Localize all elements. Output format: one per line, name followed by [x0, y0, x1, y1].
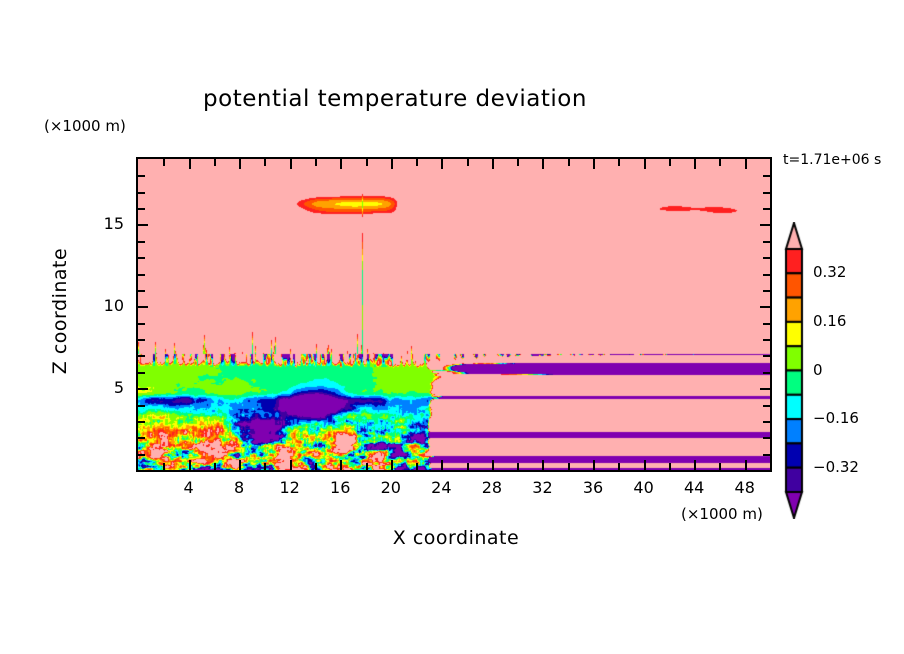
x-axis-tick [467, 463, 469, 470]
y-axis-tick [763, 372, 770, 374]
y-axis-tick [138, 274, 145, 276]
y-axis-tick [138, 454, 145, 456]
x-axis-tick [745, 159, 747, 169]
y-axis-unit-label: (×1000 m) [44, 117, 126, 135]
y-axis-tick [138, 208, 145, 210]
x-axis-tick [745, 460, 747, 470]
x-axis-tick [214, 463, 216, 470]
x-axis-title: X coordinate [256, 527, 656, 549]
y-axis-tick [763, 405, 770, 407]
colorbar-canvas [779, 222, 809, 519]
x-tick-label: 12 [270, 478, 310, 497]
x-axis-tick [669, 463, 671, 470]
y-axis-tick [760, 306, 770, 308]
colorbar-tick-label: 0 [813, 361, 823, 379]
x-axis-tick [644, 159, 646, 169]
y-axis-tick [138, 405, 145, 407]
x-axis-tick [416, 463, 418, 470]
x-tick-label: 40 [624, 478, 664, 497]
x-axis-tick [618, 463, 620, 470]
y-axis-tick [760, 224, 770, 226]
y-axis-tick [138, 372, 145, 374]
x-axis-tick [492, 460, 494, 470]
x-axis-tick [441, 460, 443, 470]
y-axis-tick [763, 339, 770, 341]
y-axis-tick [763, 192, 770, 194]
x-tick-label: 48 [725, 478, 765, 497]
x-axis-tick [189, 460, 191, 470]
x-axis-tick [340, 460, 342, 470]
x-axis-tick [517, 463, 519, 470]
y-axis-tick [138, 257, 145, 259]
y-tick-label: 15 [84, 214, 124, 233]
y-axis-title: Z coordinate [49, 211, 71, 411]
contour-field-canvas [138, 159, 770, 470]
y-axis-tick [763, 175, 770, 177]
y-axis-tick [138, 306, 148, 308]
x-axis-tick [239, 159, 241, 169]
x-axis-tick [239, 460, 241, 470]
y-axis-tick [763, 290, 770, 292]
y-axis-tick [138, 421, 145, 423]
colorbar [779, 222, 809, 519]
chart-title: potential temperature deviation [0, 86, 790, 112]
x-tick-label: 32 [522, 478, 562, 497]
y-axis-tick [138, 175, 145, 177]
y-axis-tick [763, 241, 770, 243]
x-axis-tick [467, 159, 469, 166]
x-axis-tick [719, 463, 721, 470]
y-axis-tick [763, 257, 770, 259]
colorbar-tick-label: −0.16 [813, 409, 859, 427]
x-axis-tick [694, 159, 696, 169]
y-axis-tick [138, 323, 145, 325]
x-axis-tick [618, 159, 620, 166]
x-axis-tick [416, 159, 418, 166]
x-axis-tick [189, 159, 191, 169]
y-axis-tick [763, 437, 770, 439]
timestamp-annotation: t=1.71e+06 s [783, 152, 881, 168]
y-axis-tick [763, 274, 770, 276]
x-axis-tick [517, 159, 519, 166]
y-axis-tick [138, 192, 145, 194]
y-axis-tick [763, 454, 770, 456]
colorbar-tick-label: 0.16 [813, 312, 846, 330]
x-axis-tick [542, 159, 544, 169]
y-axis-tick [763, 323, 770, 325]
x-axis-tick [644, 460, 646, 470]
y-axis-tick [138, 290, 145, 292]
x-tick-label: 4 [169, 478, 209, 497]
x-axis-tick [290, 159, 292, 169]
x-axis-tick [593, 159, 595, 169]
colorbar-tick-label: −0.32 [813, 458, 859, 476]
x-axis-unit-label: (×1000 m) [681, 505, 763, 523]
x-tick-label: 8 [219, 478, 259, 497]
y-axis-tick [763, 208, 770, 210]
y-tick-label: 5 [84, 378, 124, 397]
y-axis-tick [138, 224, 148, 226]
y-axis-tick [138, 388, 148, 390]
x-axis-tick [492, 159, 494, 169]
figure-canvas: potential temperature deviation (×1000 m… [0, 0, 904, 654]
x-axis-tick [568, 463, 570, 470]
y-axis-tick [138, 241, 145, 243]
x-axis-tick [391, 460, 393, 470]
x-axis-tick [568, 159, 570, 166]
x-axis-tick [315, 159, 317, 166]
contour-plot-area [136, 157, 772, 472]
x-axis-tick [719, 159, 721, 166]
x-axis-tick [163, 159, 165, 166]
x-axis-tick [593, 460, 595, 470]
x-tick-label: 28 [472, 478, 512, 497]
colorbar-tick-label: 0.32 [813, 263, 846, 281]
x-axis-tick [694, 460, 696, 470]
x-axis-tick [340, 159, 342, 169]
x-axis-tick [264, 463, 266, 470]
x-axis-tick [163, 463, 165, 470]
x-axis-tick [542, 460, 544, 470]
x-axis-tick [366, 463, 368, 470]
x-axis-tick [315, 463, 317, 470]
x-tick-label: 20 [371, 478, 411, 497]
x-axis-tick [290, 460, 292, 470]
x-axis-tick [366, 159, 368, 166]
y-axis-tick [763, 421, 770, 423]
y-axis-tick [138, 355, 145, 357]
y-axis-tick [138, 339, 145, 341]
y-axis-tick [138, 437, 145, 439]
x-axis-tick [264, 159, 266, 166]
y-axis-tick [763, 355, 770, 357]
x-tick-label: 16 [320, 478, 360, 497]
x-tick-label: 44 [674, 478, 714, 497]
x-axis-tick [214, 159, 216, 166]
y-axis-tick [760, 388, 770, 390]
x-tick-label: 36 [573, 478, 613, 497]
x-axis-tick [441, 159, 443, 169]
y-tick-label: 10 [84, 296, 124, 315]
x-tick-label: 24 [421, 478, 461, 497]
x-axis-tick [669, 159, 671, 166]
x-axis-tick [391, 159, 393, 169]
